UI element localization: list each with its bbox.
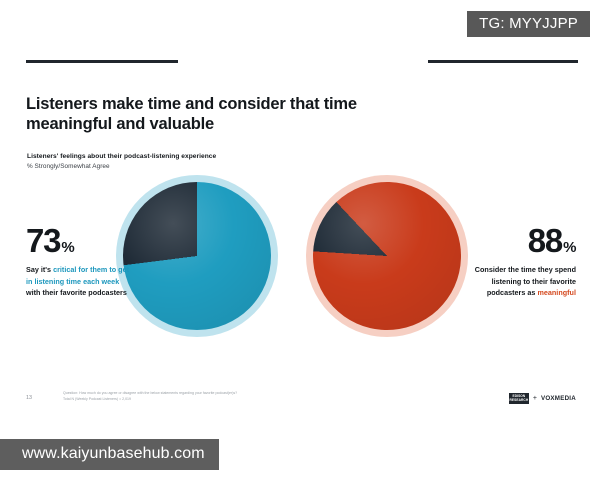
edison-research-logo: EDISON RESEARCH [509, 393, 529, 404]
stat-block-left: 73% Say it's critical for them to get in… [26, 212, 134, 299]
page-number: 13 [26, 395, 32, 401]
stat-block-right: 88% Consider the time they spend listeni… [466, 212, 576, 299]
page-title: Listeners make time and consider that ti… [26, 94, 396, 134]
subtitle-secondary: % Strongly/Somewhat Agree [27, 162, 357, 172]
url-watermark: www.kaiyunbasehub.com [0, 439, 219, 470]
footnote: Question: How much do you agree or disag… [63, 391, 363, 403]
pie-slices-left [123, 182, 271, 330]
stat-caption-left: Say it's critical for them to get in lis… [26, 264, 134, 299]
logo-group: EDISON RESEARCH + VOXMEDIA [509, 393, 576, 404]
subtitle-block: Listeners' feelings about their podcast-… [27, 152, 357, 171]
leader-rule-right [428, 60, 578, 63]
stat-value-right: 88% [466, 224, 576, 257]
stat-number-right: 88 [528, 222, 562, 259]
caption-post-left: with their favorite podcasters [26, 288, 127, 297]
footnote-sample: Total N (Weekly Podcast Listeners) = 2,0… [63, 397, 363, 403]
stat-caption-right: Consider the time they spend listening t… [466, 264, 576, 299]
stat-value-left: 73% [26, 224, 134, 257]
slide-canvas: Listeners make time and consider that ti… [8, 60, 592, 415]
caption-pre-left: Say it's [26, 265, 53, 274]
stat-percent-left: % [61, 239, 74, 256]
plus-icon: + [533, 395, 537, 402]
stat-number-left: 73 [26, 222, 60, 259]
tag-watermark: TG: MYYJJPP [467, 11, 590, 37]
stat-percent-right: % [563, 239, 576, 256]
subtitle-primary: Listeners' feelings about their podcast-… [27, 152, 357, 162]
leader-rule-left [26, 60, 178, 63]
pie-slices-right [282, 151, 491, 360]
caption-highlight-right: meaningful [537, 288, 576, 297]
vox-media-logo: VOXMEDIA [541, 395, 576, 402]
edison-logo-line2: RESEARCH [510, 399, 529, 402]
